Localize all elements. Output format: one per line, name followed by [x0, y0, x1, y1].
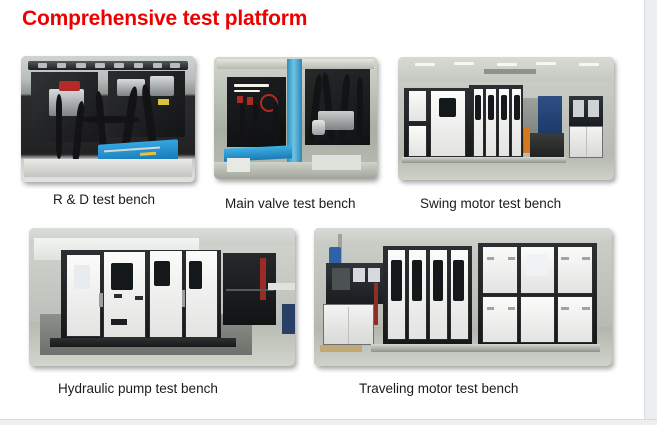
- valve-hose-2: [253, 103, 258, 144]
- ceiling-lamp-3: [497, 63, 516, 66]
- pump-label-plate: [111, 319, 127, 325]
- pedestal-right: [312, 155, 361, 171]
- photo-r-and-d-test-bench: [21, 56, 195, 182]
- cab-badge-5: [487, 307, 494, 310]
- valve-hose-7: [357, 77, 363, 138]
- page-title: Comprehensive test platform: [22, 7, 307, 31]
- bench-base: [24, 159, 191, 177]
- cabinet-a1: [408, 90, 427, 122]
- console-screen: [573, 100, 584, 117]
- valve-hose-3: [273, 101, 278, 145]
- pump-handle-2: [182, 290, 185, 307]
- control-cab-3: [557, 246, 593, 294]
- lamp-1: [234, 84, 270, 87]
- cab-badge-6: [508, 307, 515, 310]
- photo-1-scene: [21, 56, 195, 182]
- cabinet-a2: [408, 125, 427, 157]
- console-door-seam: [586, 127, 587, 157]
- rack-shelf: [226, 289, 274, 292]
- cabinet-b1-window: [475, 95, 481, 120]
- slide-canvas: Comprehensive test platform: [0, 0, 657, 425]
- photo-hydraulic-pump-test-bench: [29, 228, 295, 366]
- hose-1: [56, 94, 62, 160]
- cab-badge-2: [508, 257, 515, 260]
- blue-machine: [538, 96, 562, 133]
- photo-traveling-motor-test-bench: [314, 228, 612, 366]
- motor-window-2: [412, 260, 423, 301]
- photo-swing-motor-test-bench: [398, 57, 614, 180]
- dark-base-unit: [530, 133, 565, 158]
- pump-button-2: [135, 296, 143, 300]
- cab-badge-4: [582, 257, 589, 260]
- console-screen-2: [588, 100, 599, 117]
- console-cable: [374, 283, 378, 324]
- caption-r-and-d-test-bench: R & D test bench: [53, 192, 155, 207]
- photo-main-valve-test-bench: [214, 57, 377, 179]
- rack-red-pipe: [260, 258, 265, 299]
- red-fitting-1: [237, 96, 244, 103]
- red-component: [59, 81, 80, 91]
- ceiling-lamp-2: [454, 62, 473, 65]
- pump-window-3: [154, 261, 170, 286]
- ceiling-lamp-5: [579, 63, 598, 66]
- ceiling-lamp-4: [536, 62, 555, 65]
- pump-button-1: [114, 294, 122, 298]
- ceiling-duct: [484, 69, 536, 74]
- pallet-block: [320, 345, 362, 352]
- pump-window-1: [74, 265, 90, 288]
- page-right-edge: [644, 0, 657, 425]
- ceiling-lamp-1: [415, 63, 434, 66]
- valve-hose-1: [240, 103, 245, 144]
- cabinet-a3-window: [439, 98, 456, 118]
- yellow-tag: [158, 99, 168, 105]
- cab-badge-8: [582, 307, 589, 310]
- photo-2-scene: [214, 57, 377, 179]
- caption-swing-motor-test-bench: Swing motor test bench: [420, 196, 561, 211]
- red-fitting-2: [247, 97, 254, 104]
- cab-badge-3: [561, 257, 568, 260]
- console-seam-5: [348, 307, 349, 344]
- motor-window-1: [391, 260, 402, 301]
- motor-window-4: [453, 260, 464, 301]
- cab-badge-1: [487, 257, 494, 260]
- equipment-plinth: [402, 157, 566, 163]
- caption-traveling-motor-test-bench: Traveling motor test bench: [359, 381, 518, 396]
- page-bottom-edge: [0, 419, 657, 425]
- pump-window-4: [189, 261, 202, 289]
- overhead-rail: [28, 61, 188, 70]
- bench-plinth-5: [371, 344, 600, 352]
- bench-plinth-4: [50, 338, 236, 346]
- cabinet-b4-window: [514, 95, 520, 120]
- rear-bench-top: [268, 283, 295, 290]
- pump-window-2: [111, 263, 132, 291]
- lamp-2: [234, 90, 260, 92]
- instrument-screen-2: [353, 268, 365, 282]
- caption-hydraulic-pump-test-bench: Hydraulic pump test bench: [58, 381, 218, 396]
- accumulator: [312, 120, 325, 135]
- cab-badge-7: [561, 307, 568, 310]
- control-cab-4: [482, 296, 518, 343]
- instrument-screen-3: [368, 268, 380, 282]
- worker-figure: [282, 304, 295, 334]
- instrument-screen-1: [332, 268, 350, 290]
- control-cab-6: [557, 296, 593, 343]
- pedestal-left: [227, 158, 250, 171]
- control-cab-1: [482, 246, 518, 294]
- caption-main-valve-test-bench: Main valve test bench: [225, 196, 356, 211]
- control-cab-5: [520, 296, 556, 343]
- photo-5-scene: [314, 228, 612, 366]
- control-cab-2-window: [526, 254, 548, 276]
- pump-handle-1: [99, 293, 102, 307]
- photo-4-scene: [29, 228, 295, 366]
- blue-tank: [329, 247, 341, 264]
- valve-block: [150, 76, 174, 96]
- cabinet-b3-window: [501, 95, 507, 120]
- orange-post: [524, 128, 529, 153]
- photo-3-scene: [398, 57, 614, 180]
- motor-window-3: [433, 260, 444, 301]
- cabinet-b2-window: [488, 95, 494, 120]
